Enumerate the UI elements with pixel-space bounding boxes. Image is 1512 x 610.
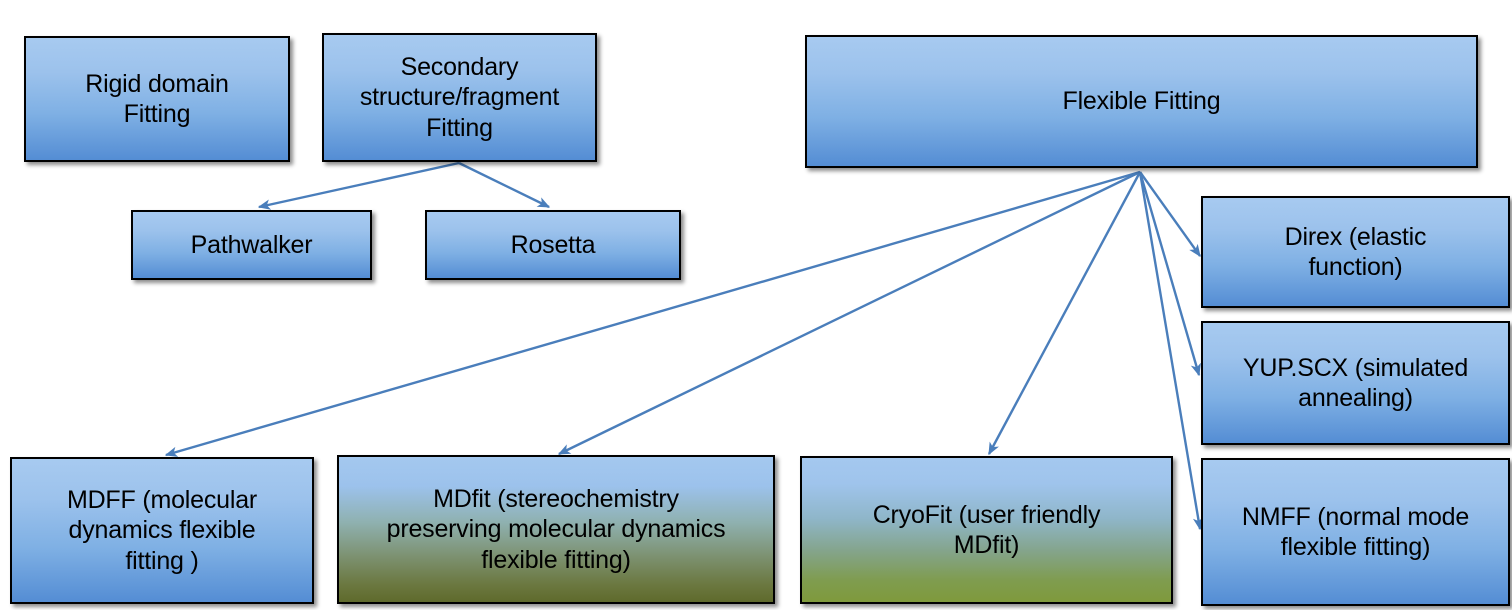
node-secondary-structure-fragment-fitting[interactable]: Secondary structure/fragment Fitting <box>322 33 597 162</box>
node-label: Flexible Fitting <box>1063 86 1221 117</box>
node-yup-scx[interactable]: YUP.SCX (simulated annealing) <box>1201 321 1510 445</box>
node-direx[interactable]: Direx (elastic function) <box>1201 196 1510 308</box>
diagram-canvas: Rigid domain FittingSecondary structure/… <box>0 0 1512 610</box>
node-label: Direx (elastic function) <box>1285 222 1427 283</box>
edge-secondary-to-pathwalker <box>259 163 459 207</box>
edge-secondary-to-rosetta <box>459 163 549 207</box>
node-pathwalker[interactable]: Pathwalker <box>131 210 372 280</box>
node-label: MDfit (stereochemistry preserving molecu… <box>387 484 726 576</box>
node-label: Rigid domain Fitting <box>85 69 229 130</box>
node-rosetta[interactable]: Rosetta <box>425 210 681 280</box>
node-cryofit[interactable]: CryoFit (user friendly MDfit) <box>800 456 1173 604</box>
edge-flexible-to-direx <box>1140 172 1200 256</box>
node-nmff[interactable]: NMFF (normal mode flexible fitting) <box>1201 458 1510 606</box>
node-mdfit[interactable]: MDfit (stereochemistry preserving molecu… <box>337 455 775 604</box>
node-label: Pathwalker <box>191 230 313 261</box>
node-label: CryoFit (user friendly MDfit) <box>873 500 1101 561</box>
edge-flexible-to-cryofit <box>989 172 1140 454</box>
node-label: NMFF (normal mode flexible fitting) <box>1242 502 1469 563</box>
node-label: Secondary structure/fragment Fitting <box>360 52 559 144</box>
node-label: MDFF (molecular dynamics flexible fittin… <box>67 485 257 577</box>
node-label: YUP.SCX (simulated annealing) <box>1243 353 1468 414</box>
node-rigid-domain-fitting[interactable]: Rigid domain Fitting <box>24 36 290 162</box>
node-mdff[interactable]: MDFF (molecular dynamics flexible fittin… <box>10 457 314 604</box>
edge-flexible-to-yupscx <box>1140 172 1199 375</box>
node-flexible-fitting[interactable]: Flexible Fitting <box>805 35 1478 168</box>
node-label: Rosetta <box>511 230 596 261</box>
